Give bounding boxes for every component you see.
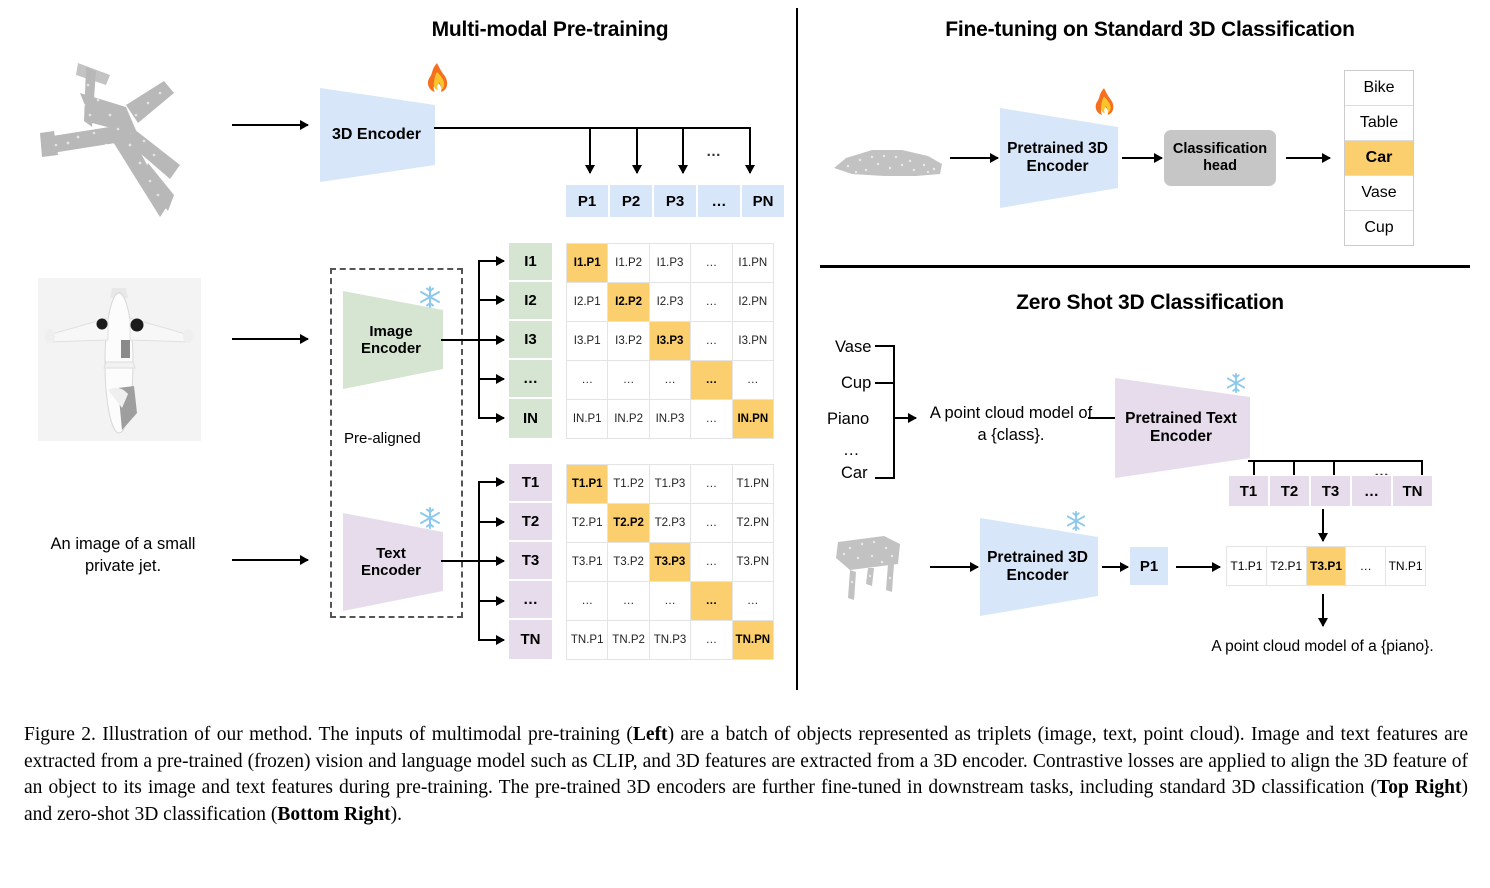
- arrow-to-t1: [478, 481, 504, 483]
- matrix-cell: T1.P3: [650, 465, 690, 503]
- image-feature-label: I2: [509, 282, 552, 321]
- snowflake-icon-3d-encoder-zs: [1065, 510, 1087, 536]
- text-feature-label: T1: [509, 464, 552, 503]
- zs-class-cup: Cup: [841, 374, 871, 393]
- text-feature-label: T2: [509, 503, 552, 542]
- arrow-simrow-to-result: [1322, 594, 1324, 626]
- input-text-line2: private jet.: [85, 557, 161, 575]
- image-feature-label-column: I1 I2 I3 … IN: [509, 243, 552, 438]
- class-item[interactable]: Bike: [1345, 71, 1413, 106]
- matrix-cell: …: [691, 621, 731, 659]
- head-line2: head: [1203, 158, 1237, 174]
- matrix-cell: TN.P2: [608, 621, 648, 659]
- matrix-cell: …: [691, 504, 731, 542]
- matrix-cell: …: [733, 361, 773, 399]
- class-item[interactable]: Vase: [1345, 176, 1413, 211]
- arrow-encoder-to-head: [1122, 157, 1162, 159]
- text-feature-label: T3: [509, 542, 552, 581]
- caption-part-1: Figure 2. Illustration of our method. Th…: [24, 724, 633, 745]
- image-encoder-line2: Encoder: [361, 340, 421, 357]
- panel-title-top-right: Fine-tuning on Standard 3D Classificatio…: [820, 18, 1480, 42]
- arrow-to-in: [478, 417, 504, 419]
- arrow-car-to-encoder: [950, 157, 998, 159]
- snowflake-icon-text-encoder: [418, 506, 442, 534]
- arrow-to-t4: [478, 600, 504, 602]
- fire-icon-pretrain: [424, 63, 450, 98]
- zs-class-car: Car: [841, 464, 868, 483]
- matrix-cell: T1.PN: [733, 465, 773, 503]
- horizontal-divider: [820, 265, 1470, 268]
- p-cell: …: [697, 184, 741, 218]
- matrix-cell: T3.P3: [650, 543, 690, 581]
- class-prediction-list: Bike Table Car Vase Cup: [1344, 70, 1414, 246]
- arrow-to-i1: [478, 260, 504, 262]
- head-line1: Classification: [1173, 141, 1267, 157]
- t-cell: T3: [1310, 475, 1351, 507]
- matrix-cell: IN.P1: [567, 400, 607, 438]
- text-feature-label: …: [509, 581, 552, 620]
- matrix-cell: T1.P1: [567, 465, 607, 503]
- matrix-cell: I3.P2: [608, 322, 648, 360]
- point-cloud-piano: [828, 522, 923, 607]
- arrow-image-to-encoder: [232, 338, 308, 340]
- matrix-cell: …: [608, 582, 648, 620]
- arrow-text-to-encoder: [232, 559, 308, 561]
- image-feature-label: I3: [509, 321, 552, 360]
- sim-cell-selected: T3.P1: [1307, 547, 1346, 585]
- matrix-cell: I1.P3: [650, 244, 690, 282]
- threed-encoder-label: 3D Encoder: [332, 126, 421, 144]
- arrow-to-tn: [478, 639, 504, 641]
- arrow-to-i4: [478, 378, 504, 380]
- matrix-cell: I2.PN: [733, 283, 773, 321]
- image-encoder-label: Image Encoder: [361, 323, 421, 358]
- panel-title-left: Multi-modal Pre-training: [280, 18, 820, 42]
- prompt-line1: A point cloud model of: [930, 404, 1092, 422]
- matrix-cell: I2.P2: [608, 283, 648, 321]
- image-encoder-out-line: [441, 339, 480, 341]
- image-feature-label: IN: [509, 399, 552, 438]
- matrix-cell: I1.P2: [608, 244, 648, 282]
- arrow-to-i3: [478, 339, 504, 341]
- figure-caption: Figure 2. Illustration of our method. Th…: [24, 722, 1468, 828]
- matrix-cell: …: [691, 465, 731, 503]
- matrix-cell: I3.P1: [567, 322, 607, 360]
- t-cell: T2: [1269, 475, 1310, 507]
- snowflake-icon-text-encoder-zs: [1225, 372, 1247, 398]
- image-feature-label: I1: [509, 243, 552, 282]
- text-feature-label: TN: [509, 620, 552, 659]
- text-encoder-line2: Encoder: [361, 562, 421, 579]
- matrix-cell: …: [733, 582, 773, 620]
- matrix-cell: T2.P3: [650, 504, 690, 542]
- image-encoder-line1: Image: [369, 323, 412, 340]
- input-text-prompt: An image of a small private jet.: [28, 533, 218, 578]
- panel-title-bottom-right: Zero Shot 3D Classification: [820, 291, 1480, 315]
- matrix-cell: …: [691, 543, 731, 581]
- arrow-to-i2: [478, 299, 504, 301]
- similarity-row-zs: T1.P1 T2.P1 T3.P1 … TN.P1: [1226, 546, 1426, 586]
- arrow-to-t3: [478, 560, 504, 562]
- pretrained-3d-encoder-finetune: Pretrained 3D Encoder: [1000, 108, 1118, 208]
- matrix-cell: IN.P3: [650, 400, 690, 438]
- p-cell: P3: [653, 184, 697, 218]
- matrix-cell: TN.PN: [733, 621, 773, 659]
- matrix-cell: T2.P2: [608, 504, 648, 542]
- text-encoder-label: Text Encoder: [361, 545, 421, 580]
- text-encoder-zs-bus: [1248, 460, 1423, 462]
- arrow-to-t2: [478, 521, 504, 523]
- caption-bold-topright: Top Right: [1377, 777, 1461, 798]
- matrix-cell: TN.P1: [567, 621, 607, 659]
- class-item-selected[interactable]: Car: [1345, 141, 1413, 176]
- input-text-line1: An image of a small: [51, 535, 196, 553]
- encoder-line2: Encoder: [1026, 158, 1088, 175]
- p-cell: P1: [565, 184, 609, 218]
- zeroshot-result-text: A point cloud model of a {piano}.: [1180, 637, 1465, 658]
- matrix-cell: T3.P2: [608, 543, 648, 581]
- arrow-pointcloud-to-encoder: [232, 124, 308, 126]
- p-cell: P2: [609, 184, 653, 218]
- arrow-trow-to-simrow: [1322, 509, 1324, 541]
- matrix-cell: …: [691, 322, 731, 360]
- vertical-divider: [796, 8, 798, 690]
- caption-bold-bottomright: Bottom Right: [277, 804, 390, 825]
- matrix-cell: …: [691, 400, 731, 438]
- matrix-cell: …: [691, 244, 731, 282]
- point-cloud-airplane: [18, 45, 258, 245]
- snowflake-icon-image-encoder: [418, 285, 442, 313]
- fire-icon-finetune: [1092, 88, 1116, 121]
- text-encoder-out-line: [441, 560, 480, 562]
- matrix-cell: I2.P3: [650, 283, 690, 321]
- zs-class-vase: Vase: [835, 338, 871, 357]
- encoder-line1: Pretrained 3D: [1007, 140, 1108, 157]
- image-feature-label: …: [509, 360, 552, 399]
- matrix-cell: IN.PN: [733, 400, 773, 438]
- matrix-cell: …: [567, 582, 607, 620]
- matrix-cell: I2.P1: [567, 283, 607, 321]
- t-cell: T1: [1228, 475, 1269, 507]
- arrow-bracket-to-prompt: [893, 417, 916, 419]
- matrix-cell: …: [650, 361, 690, 399]
- arrow-head-to-classes: [1286, 157, 1330, 159]
- matrix-cell: …: [567, 361, 607, 399]
- classification-head-block: Classification head: [1164, 130, 1276, 186]
- class-bracket-tick-cup: [875, 382, 895, 384]
- sim-cell: TN.P1: [1386, 547, 1425, 585]
- arrow-to-pn: [749, 127, 751, 173]
- matrix-cell: …: [650, 582, 690, 620]
- zs-class-ellipsis: …: [843, 441, 860, 460]
- text-encoder-zs-line1: Pretrained Text: [1125, 410, 1237, 427]
- arrow-p1-to-simrow: [1176, 566, 1220, 568]
- p-cell: PN: [741, 184, 785, 218]
- t-feature-row-zs: T1 T2 T3 … TN: [1228, 475, 1433, 507]
- p1-feature-box-zs: P1: [1130, 547, 1168, 585]
- image-similarity-matrix: I1.P1 I1.P2 I1.P3 … I1.PN I2.P1 I2.P2 I2…: [566, 243, 774, 439]
- class-bracket-tick-vase: [875, 345, 895, 347]
- arrow-to-p1: [589, 127, 591, 173]
- caption-part-4: ).: [391, 804, 402, 825]
- arrow-to-p2: [636, 127, 638, 173]
- p-feature-row: P1 P2 P3 … PN: [565, 184, 785, 218]
- t-cell: TN: [1392, 475, 1433, 507]
- text-feature-label-column: T1 T2 T3 … TN: [509, 464, 552, 659]
- pretrained-3d-encoder-label: Pretrained 3D Encoder: [1007, 140, 1108, 176]
- matrix-cell: …: [691, 361, 731, 399]
- matrix-cell: IN.P2: [608, 400, 648, 438]
- encoder-output-bus: [434, 127, 750, 129]
- prealigned-label: Pre-aligned: [344, 430, 421, 447]
- class-bracket-tick-car: [875, 477, 895, 479]
- caption-bold-left: Left: [633, 724, 668, 745]
- matrix-cell: T3.PN: [733, 543, 773, 581]
- matrix-cell: …: [608, 361, 648, 399]
- input-image-jet: [38, 278, 201, 441]
- arrow-piano-to-encoder: [930, 566, 978, 568]
- matrix-cell: I3.P3: [650, 322, 690, 360]
- ellipsis-p-arrows: …: [706, 143, 721, 160]
- matrix-cell: T1.P2: [608, 465, 648, 503]
- threed-encoder-block: 3D Encoder: [320, 88, 435, 182]
- point-cloud-car: [828, 130, 948, 190]
- zs-class-piano: Piano: [827, 410, 869, 429]
- matrix-cell: T3.P1: [567, 543, 607, 581]
- class-item[interactable]: Table: [1345, 106, 1413, 141]
- matrix-cell: …: [691, 582, 731, 620]
- matrix-cell: T2.PN: [733, 504, 773, 542]
- sim-cell: T1.P1: [1227, 547, 1266, 585]
- arrow-to-p3: [682, 127, 684, 173]
- text-encoder-zs-line2: Encoder: [1150, 428, 1212, 445]
- class-bracket-spine: [893, 345, 895, 478]
- matrix-cell: I1.P1: [567, 244, 607, 282]
- pretrained-3d-encoder-zs-label: Pretrained 3D Encoder: [987, 549, 1088, 585]
- text-encoder-line1: Text: [376, 545, 406, 562]
- sim-cell: T2.P1: [1267, 547, 1306, 585]
- encoder-zs-line1: Pretrained 3D: [987, 549, 1088, 566]
- pretrained-text-encoder-label: Pretrained Text Encoder: [1125, 410, 1237, 446]
- matrix-cell: TN.P3: [650, 621, 690, 659]
- text-similarity-matrix: T1.P1 T1.P2 T1.P3 … T1.PN T2.P1 T2.P2 T2…: [566, 464, 774, 660]
- t-cell: …: [1351, 475, 1392, 507]
- prompt-template-text: A point cloud model of a {class}.: [916, 402, 1106, 447]
- encoder-zs-line2: Encoder: [1006, 567, 1068, 584]
- matrix-cell: I1.PN: [733, 244, 773, 282]
- prompt-line2: a {class}.: [978, 426, 1045, 444]
- matrix-cell: T2.P1: [567, 504, 607, 542]
- matrix-cell: I3.PN: [733, 322, 773, 360]
- sim-cell: …: [1346, 547, 1385, 585]
- matrix-cell: …: [691, 283, 731, 321]
- arrow-encoder-to-p1-zs: [1102, 566, 1128, 568]
- class-item[interactable]: Cup: [1345, 211, 1413, 245]
